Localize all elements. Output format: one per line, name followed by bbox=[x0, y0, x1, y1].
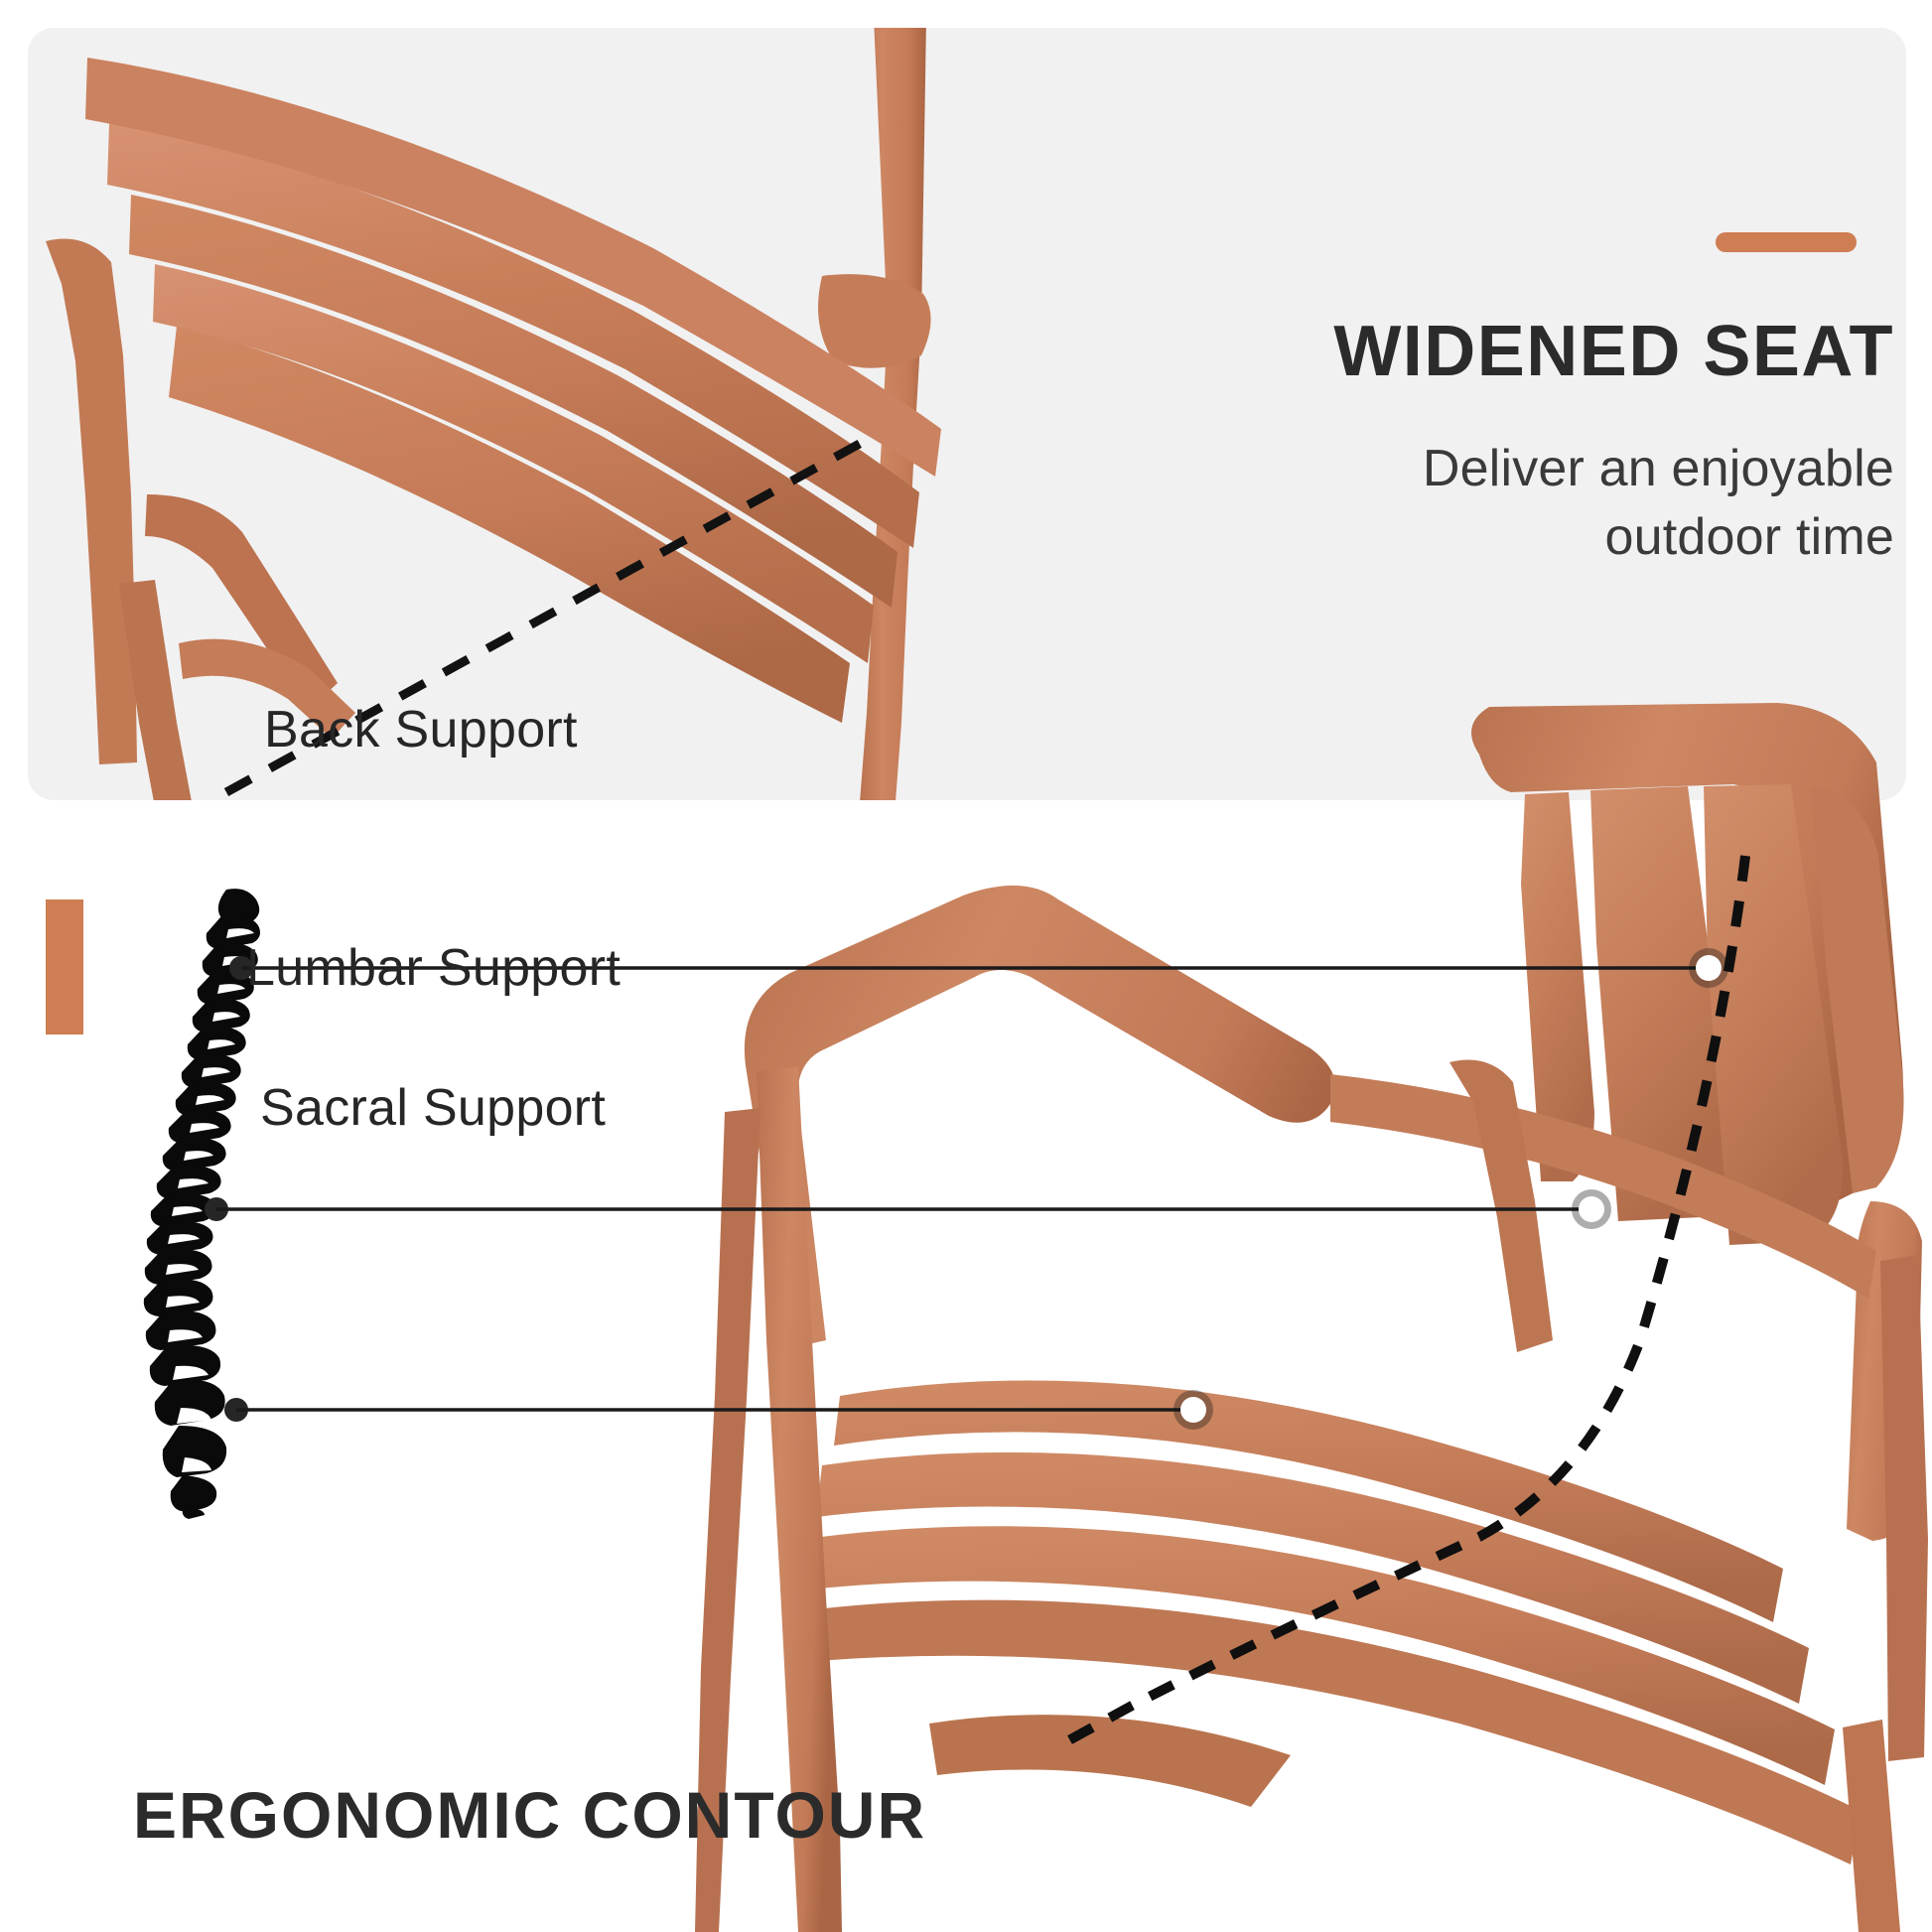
infographic-canvas: WIDENED SEAT Deliver an enjoyable outdoo… bbox=[0, 0, 1932, 1932]
lower-cross-rail bbox=[929, 1715, 1291, 1807]
callout-label-sacral-support: Sacral Support bbox=[260, 1078, 606, 1138]
subtitle-line-2: outdoor time bbox=[1050, 503, 1894, 572]
spine-vertebrae-group bbox=[144, 889, 260, 1519]
left-armrest bbox=[745, 886, 1335, 1348]
callout-label-lumbar-support: Lumbar Support bbox=[246, 938, 621, 998]
ergonomic-armchair-image bbox=[695, 645, 1932, 1932]
accent-tab bbox=[46, 899, 83, 1035]
callout-label-back-support: Back Support bbox=[264, 700, 578, 759]
left-frame bbox=[46, 239, 137, 764]
page-subtitle: Deliver an enjoyable outdoor time bbox=[1050, 435, 1894, 571]
subtitle-line-1: Deliver an enjoyable bbox=[1050, 435, 1894, 503]
accent-bar bbox=[1716, 232, 1857, 252]
page-title: WIDENED SEAT bbox=[1100, 316, 1894, 387]
rear-right-leg bbox=[1880, 1255, 1928, 1761]
armchair-svg bbox=[695, 645, 1932, 1932]
section-title: ERGONOMIC CONTOUR bbox=[133, 1777, 926, 1853]
